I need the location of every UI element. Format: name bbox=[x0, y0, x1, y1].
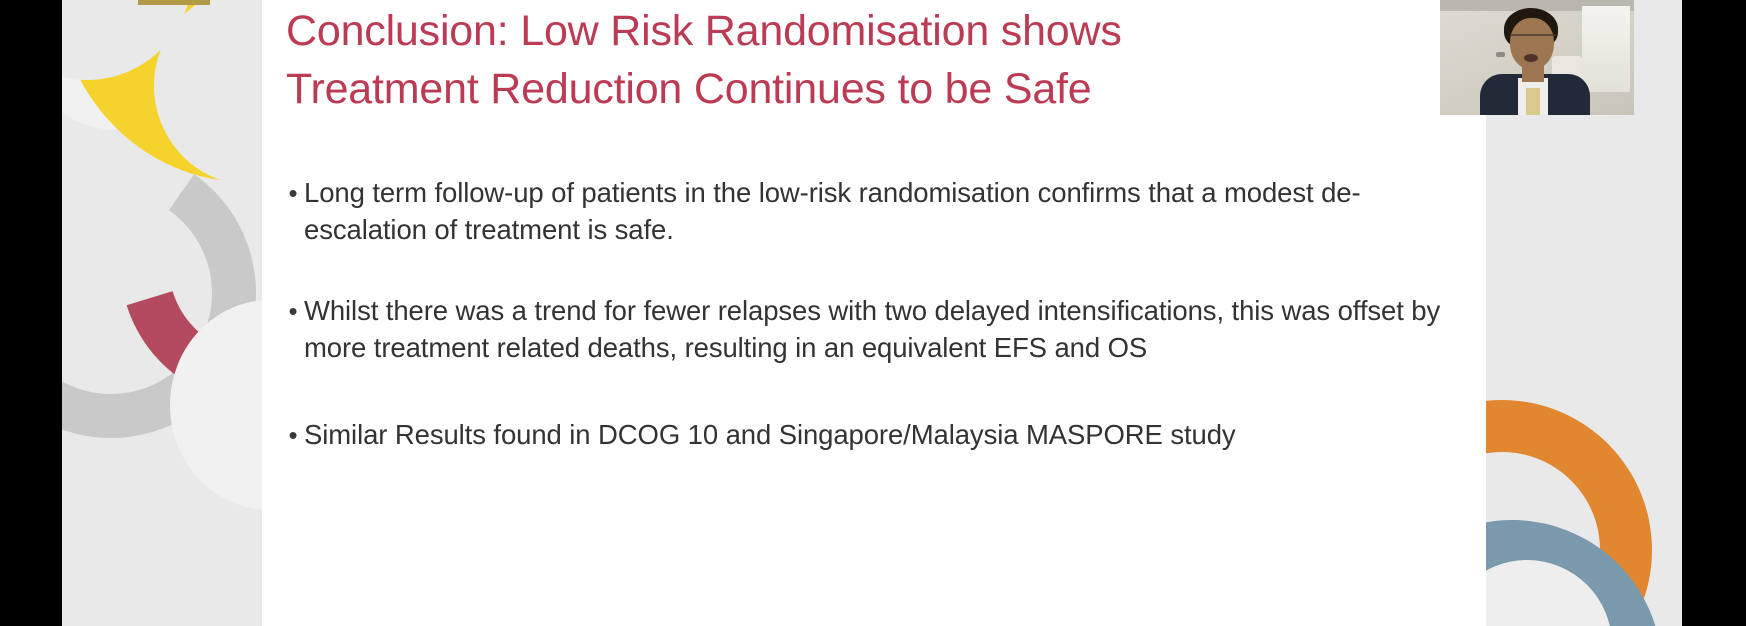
bullet-dot-icon: • bbox=[262, 292, 304, 366]
slide-bullet-item-1: • Long term follow-up of patients in the… bbox=[262, 174, 1486, 248]
letterbox-bar-right bbox=[1682, 0, 1746, 626]
letterbox-bar-left bbox=[0, 0, 62, 626]
webcam-window bbox=[1582, 6, 1630, 92]
bullet-text-3: Similar Results found in DCOG 10 and Sin… bbox=[304, 416, 1486, 454]
slide-bullet-item-3: • Similar Results found in DCOG 10 and S… bbox=[262, 416, 1486, 454]
webcam-wall-fixture bbox=[1496, 52, 1505, 57]
slide-bullet-item-2: • Whilst there was a trend for fewer rel… bbox=[262, 292, 1486, 366]
bullet-dot-icon: • bbox=[262, 416, 304, 454]
bullet-dot-icon: • bbox=[262, 174, 304, 248]
video-player-stage: Conclusion: Low Risk Randomisation shows… bbox=[0, 0, 1746, 626]
presentation-slide: Conclusion: Low Risk Randomisation shows… bbox=[62, 0, 1682, 626]
slide-bullet-list: • Long term follow-up of patients in the… bbox=[262, 174, 1486, 498]
webcam-person-glasses bbox=[1510, 34, 1556, 42]
bullet-text-1: Long term follow-up of patients in the l… bbox=[304, 174, 1486, 248]
presenter-video-thumbnail[interactable] bbox=[1440, 0, 1634, 115]
webcam-person-mouth bbox=[1524, 54, 1538, 62]
slide-title: Conclusion: Low Risk Randomisation shows… bbox=[286, 2, 1186, 118]
webcam-person-tie bbox=[1526, 88, 1540, 115]
webcam-person-face bbox=[1510, 18, 1554, 70]
bullet-text-2: Whilst there was a trend for fewer relap… bbox=[304, 292, 1486, 366]
slide-content-panel: Conclusion: Low Risk Randomisation shows… bbox=[262, 0, 1486, 626]
decorative-gold-strip bbox=[138, 0, 210, 5]
